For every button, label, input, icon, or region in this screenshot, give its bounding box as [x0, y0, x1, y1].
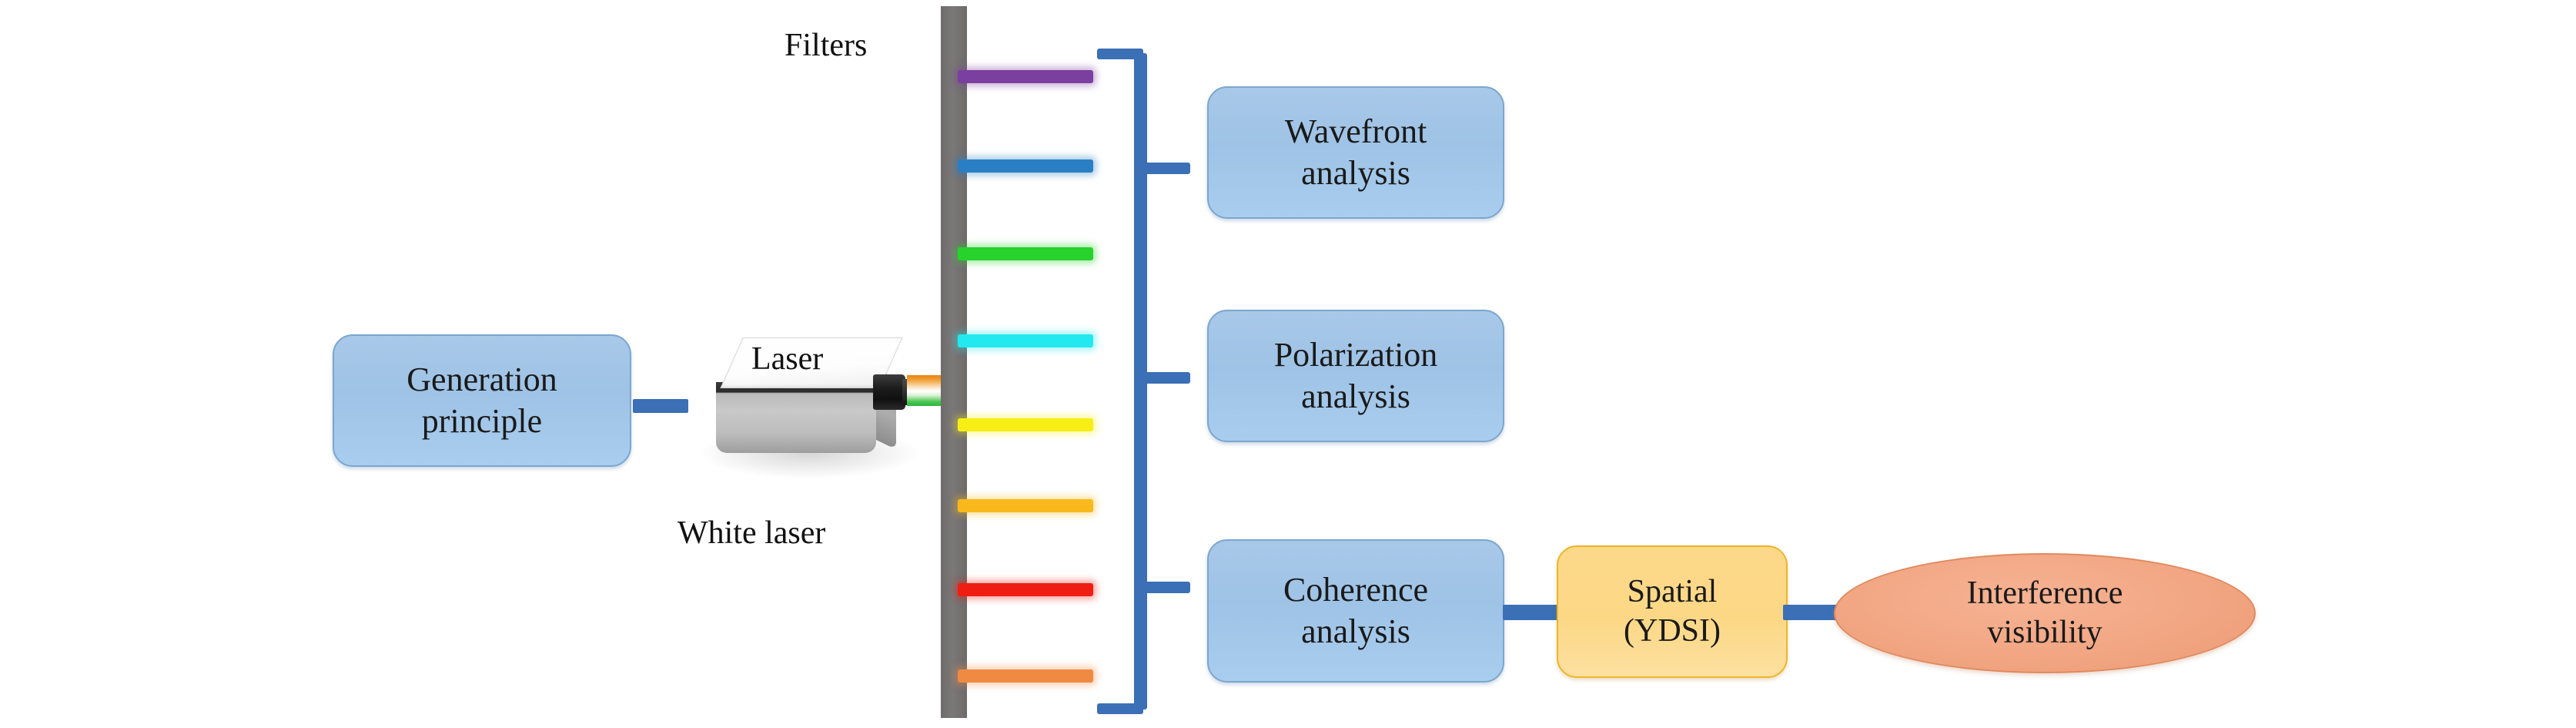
filter-blue — [958, 159, 1093, 173]
laser-front-face — [716, 382, 876, 453]
filter-yellow — [958, 418, 1093, 431]
node-interference-visibility-label: Interferencevisibility — [1967, 574, 2123, 653]
laser-device-illustration: Laser — [693, 333, 947, 479]
brace-top-hook — [1097, 49, 1143, 59]
filter-violet — [958, 70, 1093, 83]
filter-green — [958, 247, 1093, 260]
node-generation-principle-label: Generationprinciple — [406, 359, 557, 441]
filter-red — [958, 583, 1093, 596]
node-generation-principle[interactable]: Generationprinciple — [333, 334, 631, 467]
connector-generation-to-laser — [633, 399, 688, 413]
node-wavefront-analysis[interactable]: Wavefrontanalysis — [1207, 86, 1504, 219]
node-spatial-ydsi-label: Spatial(YDSI) — [1624, 572, 1721, 651]
filter-amber — [958, 499, 1093, 512]
filter-orange — [958, 669, 1093, 683]
node-wavefront-analysis-label: Wavefrontanalysis — [1285, 111, 1427, 193]
node-interference-visibility[interactable]: Interferencevisibility — [1834, 553, 2256, 673]
node-polarization-analysis[interactable]: Polarizationanalysis — [1207, 310, 1504, 442]
brace-branch-wavefront — [1144, 163, 1190, 174]
laser-aperture — [873, 374, 905, 410]
node-coherence-analysis-label: Coherenceanalysis — [1283, 569, 1428, 652]
brace-bottom-hook — [1097, 703, 1143, 714]
brace-branch-coherence — [1144, 582, 1190, 593]
white-laser-caption: White laser — [677, 515, 825, 552]
node-coherence-analysis[interactable]: Coherenceanalysis — [1207, 539, 1504, 683]
connector-coherence-to-spatial — [1503, 605, 1561, 620]
laser-device-label: Laser — [751, 341, 823, 377]
brace-branch-polarization — [1144, 372, 1190, 384]
node-spatial-ydsi[interactable]: Spatial(YDSI) — [1557, 545, 1788, 678]
filters-caption: Filters — [785, 27, 867, 64]
filter-cyan — [958, 334, 1093, 347]
node-polarization-analysis-label: Polarizationanalysis — [1274, 334, 1438, 417]
diagram-canvas: Generationprinciple Laser White laser Fi… — [0, 0, 2576, 728]
filter-wall — [941, 6, 967, 718]
